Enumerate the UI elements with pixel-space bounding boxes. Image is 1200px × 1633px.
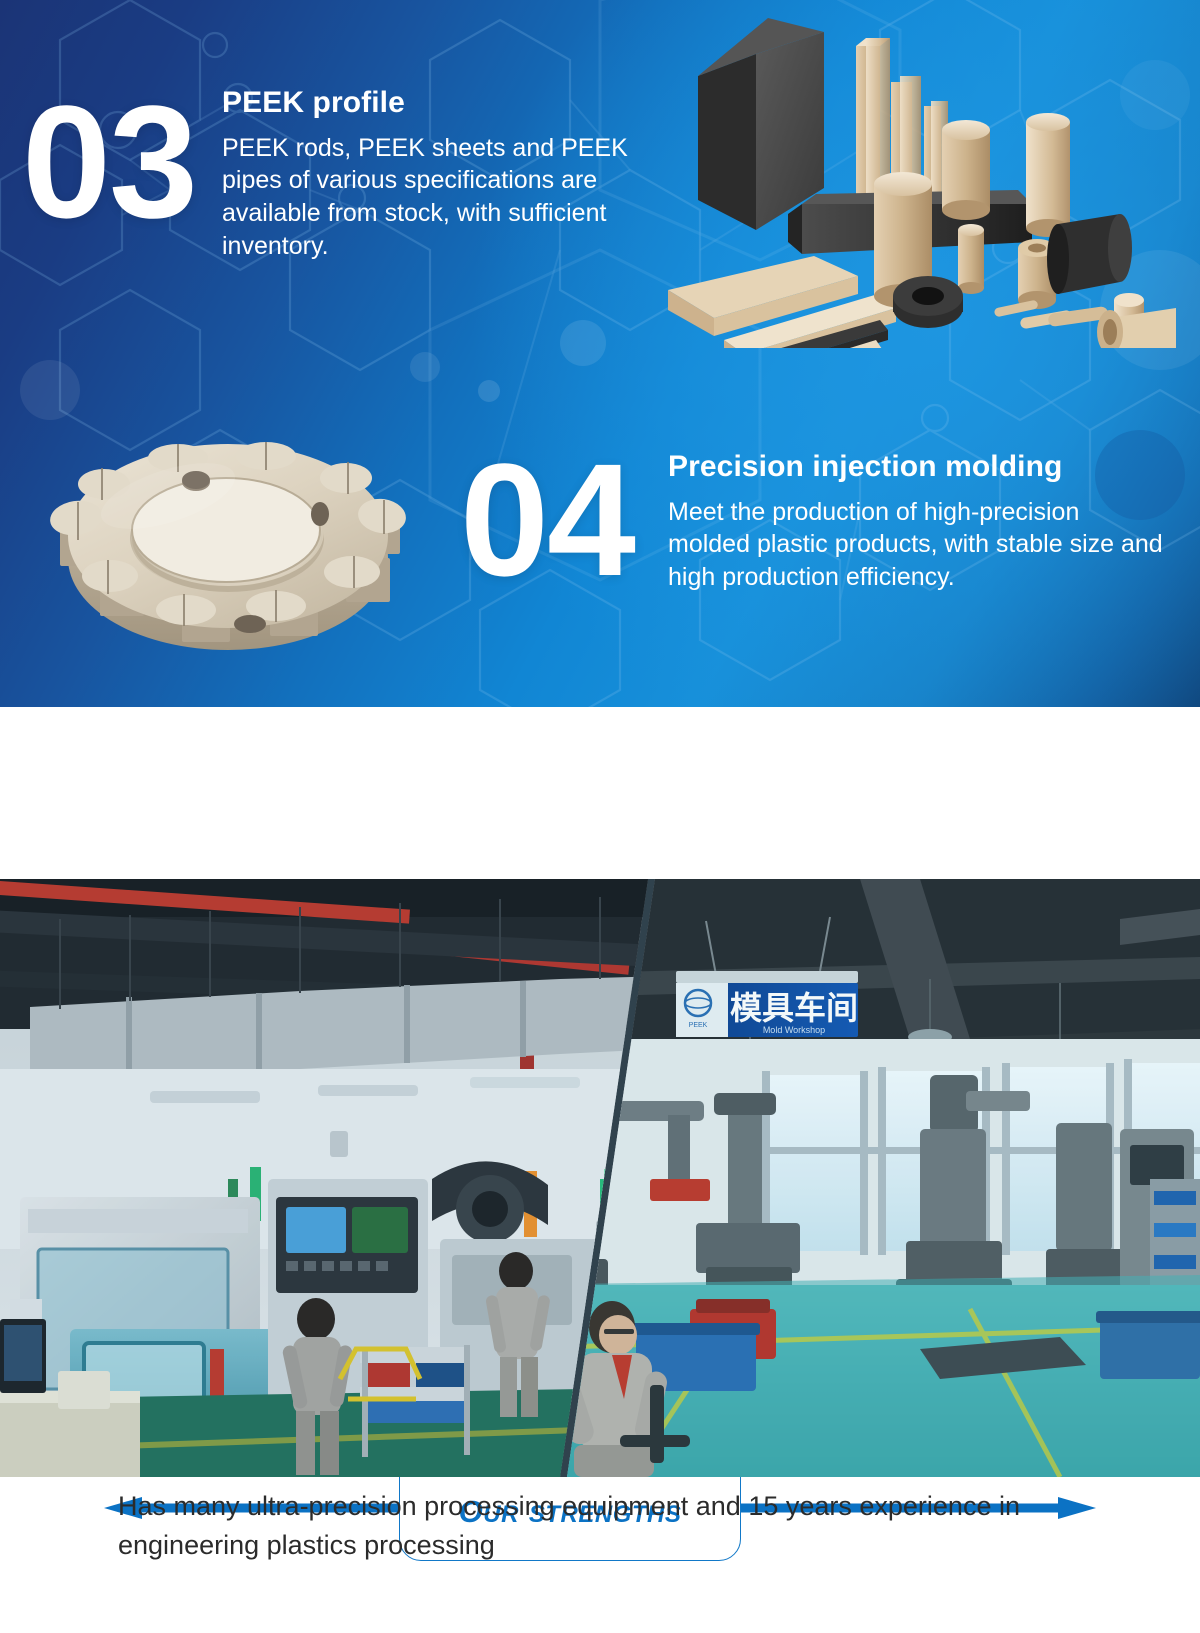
item-text-04: Precision injection molding Meet the pro… <box>668 450 1168 594</box>
item-title-04: Precision injection molding <box>668 450 1168 485</box>
peek-gear-ring-photo <box>28 394 428 674</box>
item-title-03: PEEK profile <box>222 86 652 121</box>
bokeh-dot <box>478 380 500 402</box>
item-body-03: PEEK rods, PEEK sheets and PEEK pipes of… <box>222 132 652 263</box>
strengths-banner-section: Our strengths <box>0 707 1200 879</box>
bottom-caption: Has many ultra-precision processing equi… <box>0 1487 1200 1565</box>
factory-photos-section: PEEK 模具车间 Mold Workshop <box>0 879 1200 1477</box>
item-number-03: 03 <box>22 82 196 242</box>
peek-stock-profiles-photo <box>628 18 1188 348</box>
item-body-04: Meet the production of high-precision mo… <box>668 496 1168 594</box>
item-text-03: PEEK profile PEEK rods, PEEK sheets and … <box>222 86 652 263</box>
bokeh-dot <box>410 352 440 382</box>
bokeh-dot <box>560 320 606 366</box>
hero-section: 03 PEEK profile PEEK rods, PEEK sheets a… <box>0 0 1200 707</box>
item-number-04: 04 <box>460 440 634 600</box>
